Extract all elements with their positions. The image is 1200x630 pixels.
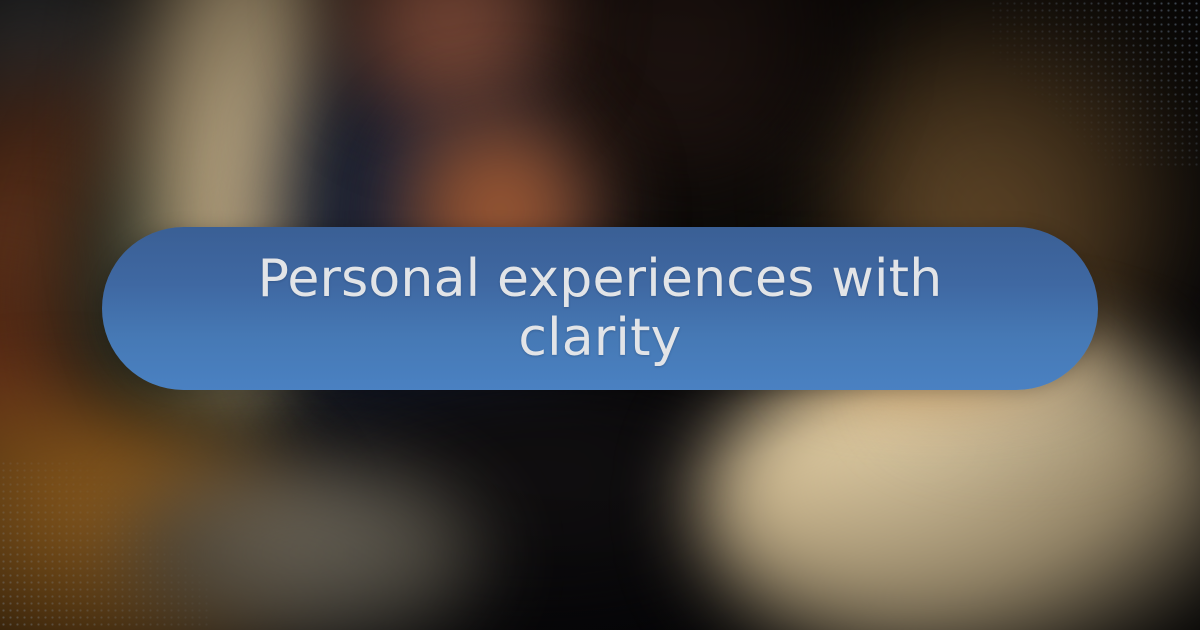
headline-pill-container: Personal experiences with clarity xyxy=(0,227,1200,390)
headline-text: Personal experiences with clarity xyxy=(250,250,950,366)
banner-card: Personal experiences with clarity xyxy=(0,0,1200,630)
headline-pill-button[interactable]: Personal experiences with clarity xyxy=(102,227,1098,390)
